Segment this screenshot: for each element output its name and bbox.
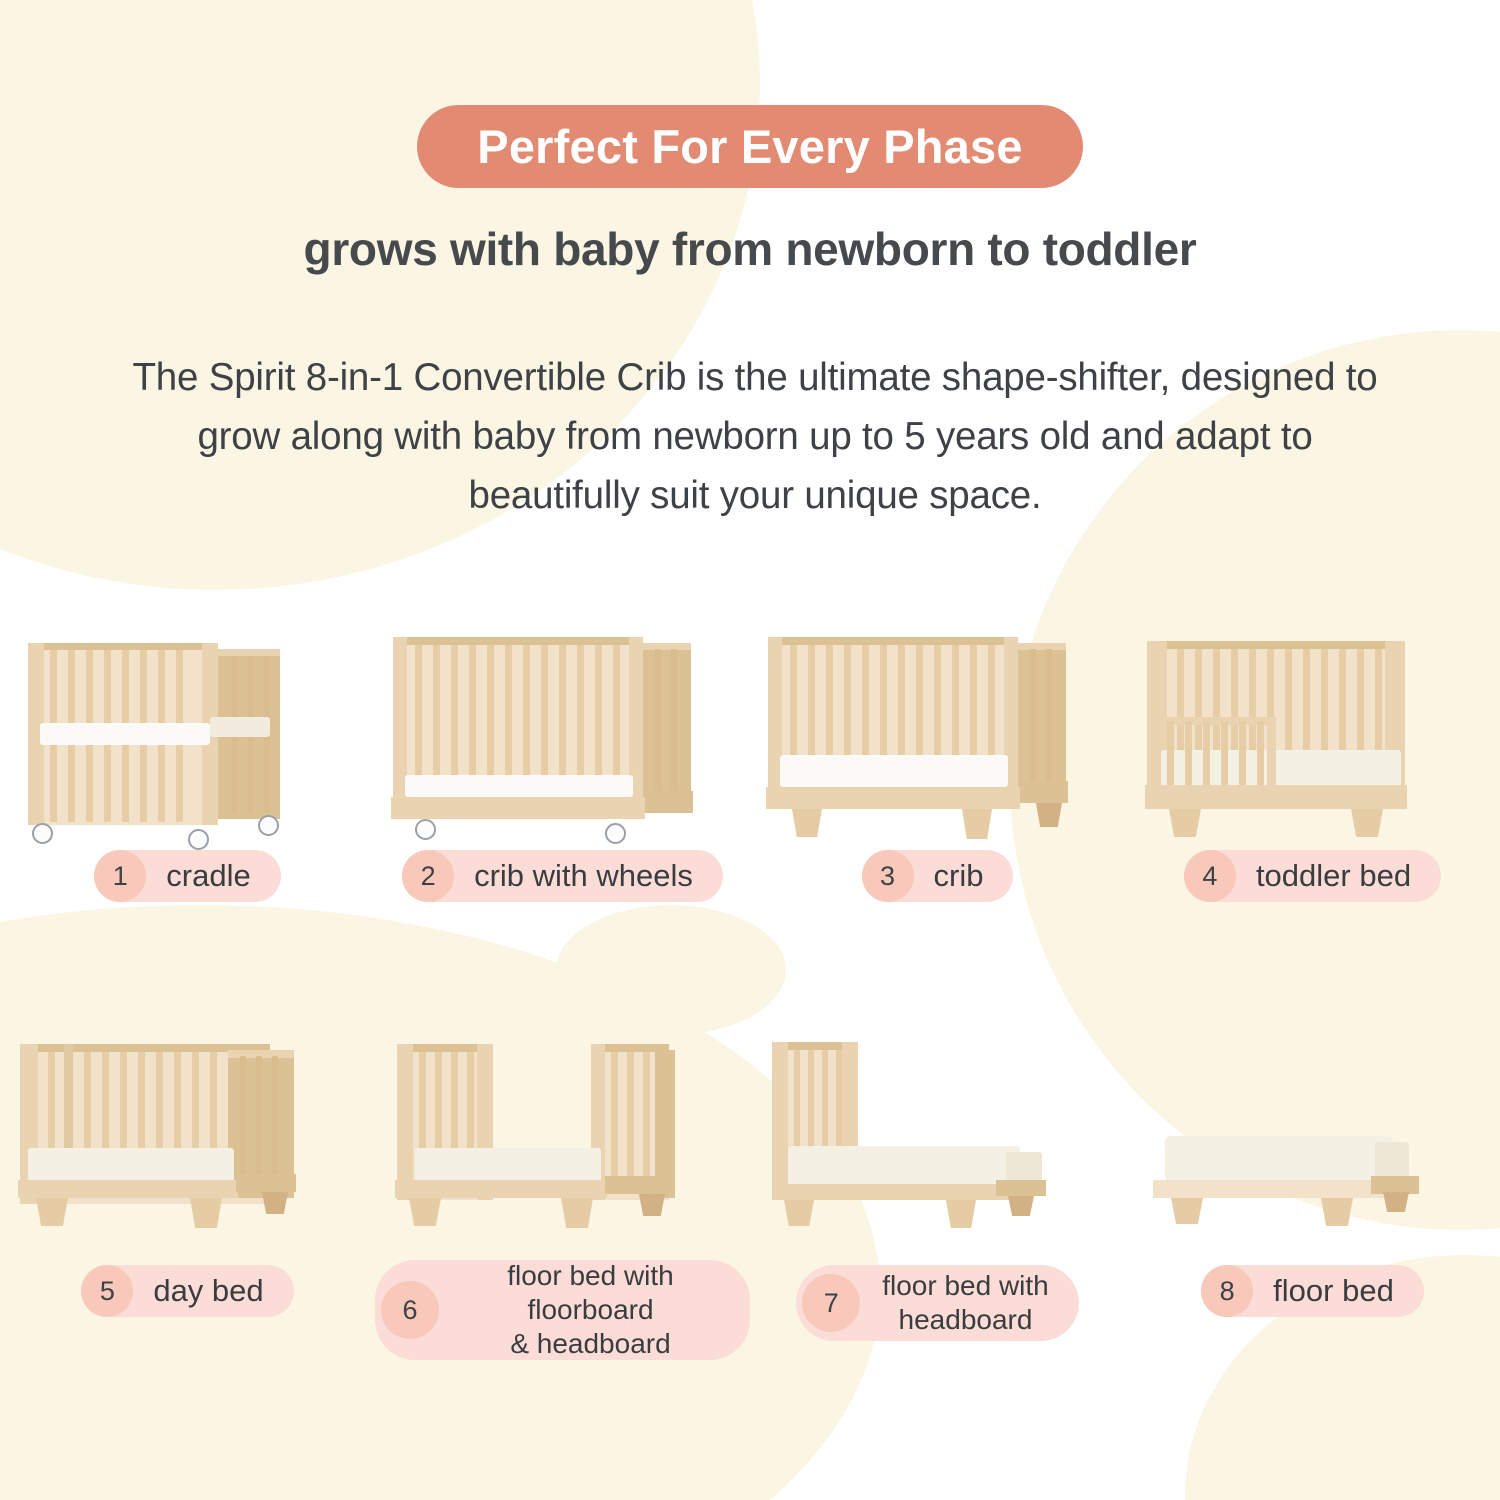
phase-row-top: 1 cradle bbox=[0, 625, 1500, 925]
product-illustration-floor-bed bbox=[1125, 1030, 1500, 1265]
phase-caption-6: 6 floor bed with floorboard & headboard bbox=[375, 1260, 750, 1360]
body-paragraph: The Spirit 8-in-1 Convertible Crib is th… bbox=[110, 348, 1400, 525]
product-illustration-crib-wheels bbox=[375, 625, 750, 850]
product-illustration-floor-bed-headboard bbox=[750, 1030, 1125, 1265]
phase-caption-7: 7 floor bed with headboard bbox=[796, 1265, 1079, 1341]
product-illustration-crib bbox=[750, 625, 1125, 850]
phase-card-6: 6 floor bed with floorboard & headboard bbox=[375, 1030, 750, 1360]
phase-label-4: toddler bed bbox=[1240, 858, 1415, 894]
phase-number-7: 7 bbox=[802, 1274, 860, 1332]
phase-card-8: 8 floor bed bbox=[1125, 1030, 1500, 1360]
phase-number-8: 8 bbox=[1201, 1265, 1253, 1317]
phase-label-5: day bed bbox=[137, 1273, 267, 1309]
phase-label-1: cradle bbox=[150, 858, 254, 894]
phase-label-6: floor bed with floorboard & headboard bbox=[443, 1259, 724, 1361]
product-illustration-toddler-bed bbox=[1125, 625, 1500, 850]
phase-label-7: floor bed with headboard bbox=[864, 1269, 1053, 1337]
phase-number-1: 1 bbox=[94, 850, 146, 902]
phase-card-4: 4 toddler bed bbox=[1125, 625, 1500, 925]
phase-card-2: 2 crib with wheels bbox=[375, 625, 750, 925]
phase-number-3: 3 bbox=[862, 850, 914, 902]
product-illustration-cradle bbox=[0, 625, 375, 850]
phase-card-7: 7 floor bed with headboard bbox=[750, 1030, 1125, 1360]
phase-card-3: 3 crib bbox=[750, 625, 1125, 925]
page-subtitle: grows with baby from newborn to toddler bbox=[0, 222, 1500, 276]
product-illustration-day-bed bbox=[0, 1030, 375, 1265]
phase-caption-1: 1 cradle bbox=[94, 850, 280, 902]
phase-label-8: floor bed bbox=[1257, 1273, 1398, 1309]
phase-card-1: 1 cradle bbox=[0, 625, 375, 925]
phase-row-bottom: 5 day bed bbox=[0, 1030, 1500, 1360]
phase-caption-4: 4 toddler bed bbox=[1184, 850, 1441, 902]
product-illustration-floor-bed-floorboard-headboard bbox=[375, 1030, 750, 1260]
phase-caption-8: 8 floor bed bbox=[1201, 1265, 1424, 1317]
phase-number-5: 5 bbox=[81, 1265, 133, 1317]
phase-caption-2: 2 crib with wheels bbox=[402, 850, 723, 902]
header-badge-label: Perfect For Every Phase bbox=[477, 119, 1022, 174]
phase-number-2: 2 bbox=[402, 850, 454, 902]
header-badge: Perfect For Every Phase bbox=[417, 105, 1083, 188]
phase-card-5: 5 day bed bbox=[0, 1030, 375, 1360]
infographic-canvas: Perfect For Every Phase grows with baby … bbox=[0, 0, 1500, 1500]
phase-caption-5: 5 day bed bbox=[81, 1265, 293, 1317]
phase-caption-3: 3 crib bbox=[862, 850, 1014, 902]
phase-label-2: crib with wheels bbox=[458, 858, 697, 894]
phase-label-3: crib bbox=[918, 858, 988, 894]
phase-number-4: 4 bbox=[1184, 850, 1236, 902]
phase-number-6: 6 bbox=[381, 1281, 439, 1339]
